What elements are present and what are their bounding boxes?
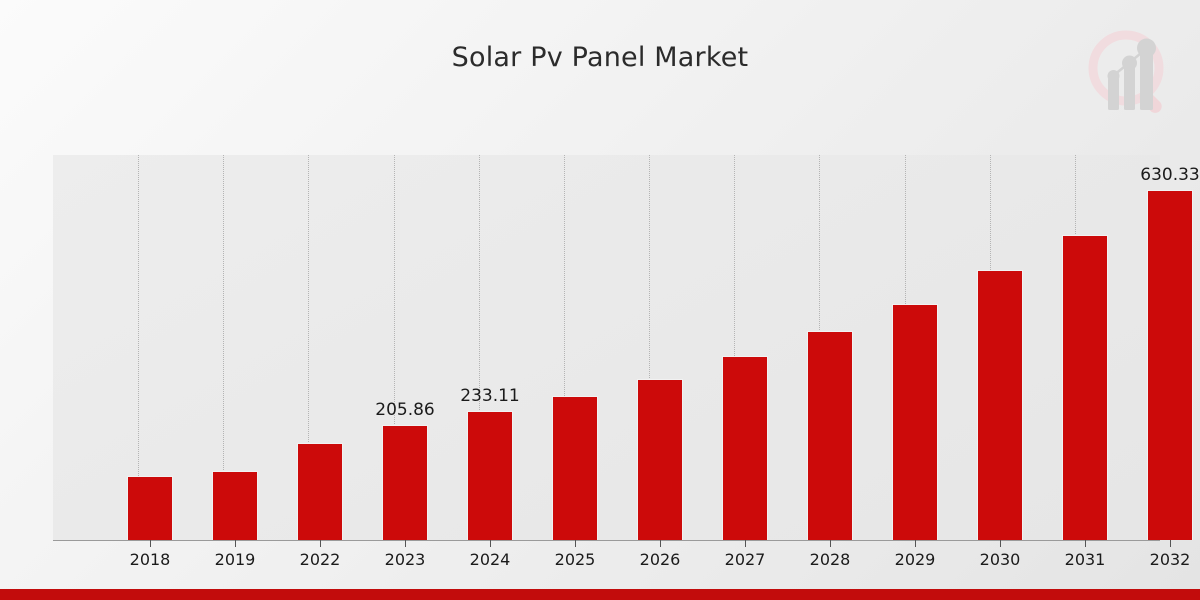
- x-tick-2028: [830, 540, 831, 547]
- page-title: Solar Pv Panel Market: [0, 42, 1200, 73]
- x-tick-2019: [235, 540, 236, 547]
- x-tick-2029: [915, 540, 916, 547]
- bar-2018[interactable]: [127, 476, 173, 540]
- bar-value-label-2023: 205.86: [375, 400, 434, 420]
- bar-value-label-2032: 630.33: [1140, 165, 1199, 185]
- logo-dot-large: [1137, 39, 1156, 58]
- x-tick-label-2019: 2019: [215, 550, 256, 569]
- bar-2030[interactable]: [977, 270, 1023, 540]
- x-tick-label-2030: 2030: [980, 550, 1021, 569]
- bar-2025[interactable]: [552, 396, 598, 540]
- bar-2024[interactable]: [467, 411, 513, 540]
- bar-series: 205.86233.11630.33: [53, 155, 1160, 540]
- x-tick-2024: [490, 540, 491, 547]
- bar-value-label-2024: 233.11: [460, 386, 519, 406]
- logo-dot-small: [1108, 70, 1120, 82]
- x-tick-label-2028: 2028: [810, 550, 851, 569]
- x-tick-label-2022: 2022: [300, 550, 341, 569]
- bar-2026[interactable]: [637, 379, 683, 540]
- x-tick-2032: [1170, 540, 1171, 547]
- logo-bar-large: [1140, 52, 1153, 110]
- bar-2023[interactable]: [382, 425, 428, 540]
- bar-2031[interactable]: [1062, 235, 1108, 540]
- x-tick-2018: [150, 540, 151, 547]
- x-tick-label-2018: 2018: [130, 550, 171, 569]
- x-tick-2030: [1000, 540, 1001, 547]
- logo-svg: [1078, 22, 1182, 126]
- x-tick-label-2027: 2027: [725, 550, 766, 569]
- plot-area: 205.86233.11630.33: [53, 155, 1160, 540]
- x-tick-2022: [320, 540, 321, 547]
- bar-2019[interactable]: [212, 471, 258, 540]
- x-tick-2023: [405, 540, 406, 547]
- x-tick-label-2026: 2026: [640, 550, 681, 569]
- x-tick-label-2031: 2031: [1065, 550, 1106, 569]
- x-tick-2031: [1085, 540, 1086, 547]
- bar-2029[interactable]: [892, 304, 938, 540]
- x-tick-2026: [660, 540, 661, 547]
- x-tick-label-2029: 2029: [895, 550, 936, 569]
- bar-2028[interactable]: [807, 331, 853, 540]
- bar-2022[interactable]: [297, 443, 343, 540]
- x-tick-label-2032: 2032: [1150, 550, 1191, 569]
- x-axis-line: [53, 540, 1160, 541]
- logo-bar-small: [1108, 78, 1119, 110]
- x-tick-label-2024: 2024: [470, 550, 511, 569]
- logo-bar-medium: [1124, 66, 1135, 110]
- logo-dot-medium: [1122, 56, 1137, 71]
- market-research-magnifier-logo: [1078, 22, 1182, 126]
- bar-2027[interactable]: [722, 356, 768, 540]
- chart-page: Solar Pv Panel Market Market Value in US…: [0, 0, 1200, 600]
- x-tick-2027: [745, 540, 746, 547]
- bottom-accent-strip: [0, 589, 1200, 600]
- bar-2032[interactable]: [1147, 190, 1193, 540]
- x-tick-label-2023: 2023: [385, 550, 426, 569]
- x-tick-label-2025: 2025: [555, 550, 596, 569]
- x-tick-2025: [575, 540, 576, 547]
